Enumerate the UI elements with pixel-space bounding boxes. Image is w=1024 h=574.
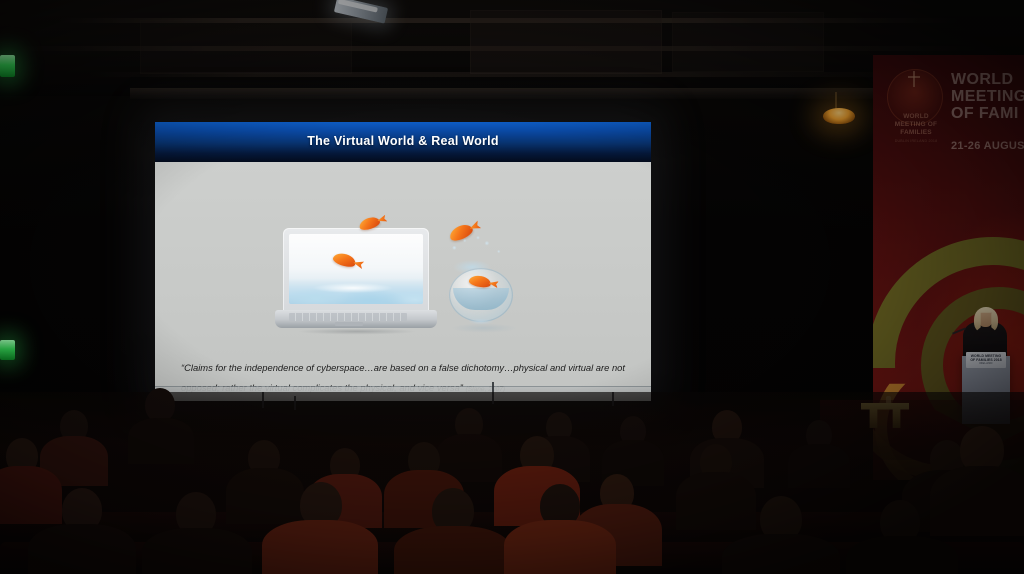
- water-foam: [297, 282, 409, 294]
- podium-sign: WORLD MEETING OF FAMILIES 2018 IRELAND: [966, 352, 1006, 368]
- slide: The Virtual World & Real World: [155, 122, 651, 401]
- slide-body: “Claims for the independence of cyberspa…: [155, 162, 651, 401]
- podium-sign-line-3: IRELAND: [979, 362, 992, 366]
- hanging-lamp-icon: [823, 108, 855, 124]
- banner-headline: WORLD MEETING OF FAMI: [951, 71, 1024, 122]
- banner-logo-text: WORLDMEETING OFFAMILIES: [885, 113, 947, 137]
- laptop-lid: [283, 228, 429, 312]
- slide-illustration: [273, 210, 531, 350]
- banner-line-2: MEETING: [951, 88, 1024, 105]
- wall-panel: [470, 10, 662, 74]
- cross-icon: [913, 71, 915, 87]
- laptop-trackpad: [335, 322, 363, 326]
- exit-sign-upper-left: [0, 55, 15, 77]
- wall-panel: [672, 12, 824, 72]
- fishbowl-base: [465, 318, 497, 325]
- projection-screen: The Virtual World & Real World: [155, 122, 651, 401]
- laptop-screen: [289, 234, 423, 304]
- laptop-shadow: [279, 328, 435, 335]
- presentation-photo-scene: The Virtual World & Real World: [0, 0, 1024, 574]
- wall-panel: [140, 20, 352, 74]
- laptop-keyboard: [289, 313, 407, 321]
- audience: [0, 392, 1024, 574]
- banner-logo-subtext: DUBLIN IRELAND 2018: [885, 139, 947, 143]
- slide-title: The Virtual World & Real World: [155, 134, 651, 148]
- banner-line-3: OF FAMI: [951, 105, 1024, 122]
- ceiling-truss: [130, 88, 890, 99]
- exit-sign-lower-left: [0, 340, 15, 360]
- banner-line-1: WORLD: [951, 71, 1024, 88]
- banner-dates: 21-26 AUGUST: [951, 140, 1024, 152]
